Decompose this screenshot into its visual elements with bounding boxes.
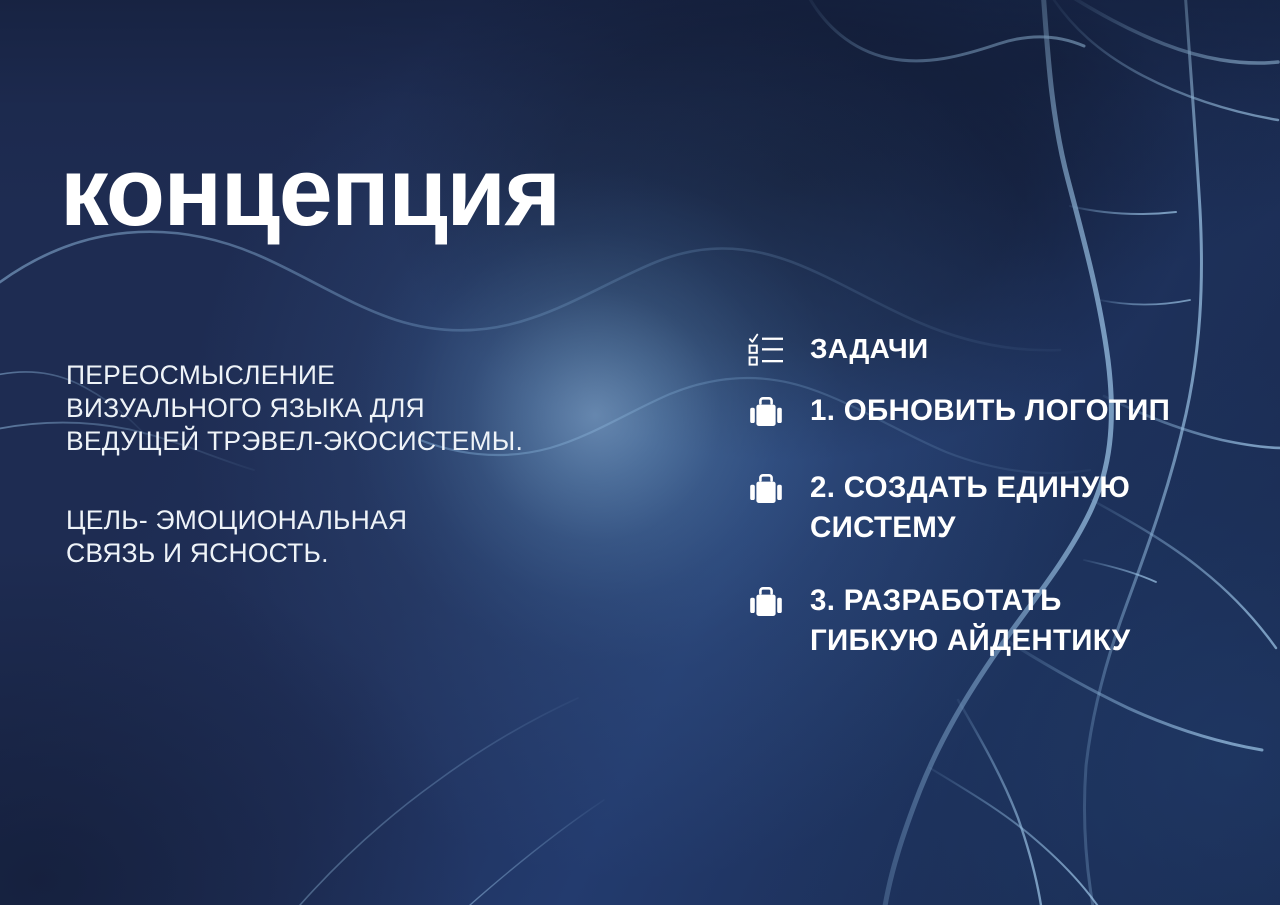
task-item[interactable]: 1. ОБНОВИТЬ ЛОГОТИП <box>748 390 1248 434</box>
briefcase-icon-wrapper <box>748 467 810 511</box>
paragraph-concept: ПЕРЕОСМЫСЛЕНИЕ ВИЗУАЛЬНОГО ЯЗЫКА ДЛЯ ВЕД… <box>66 359 686 458</box>
tasks-heading-text: ЗАДАЧИ <box>810 329 928 369</box>
task-item[interactable]: 3. РАЗРАБОТАТЬ ГИБКУЮ АЙДЕНТИКУ <box>748 580 1248 661</box>
checklist-icon-wrapper <box>748 328 810 372</box>
tasks-heading-label: ЗАДАЧИ <box>810 328 928 369</box>
task-line: 1. ОБНОВИТЬ ЛОГОТИП <box>810 391 1170 431</box>
paragraph-line: ВИЗУАЛЬНОГО ЯЗЫКА ДЛЯ <box>66 392 686 425</box>
briefcase-icon <box>748 472 784 506</box>
task-label: 3. РАЗРАБОТАТЬ ГИБКУЮ АЙДЕНТИКУ <box>810 580 1130 661</box>
tasks-list: ЗАДАЧИ 1. ОБНОВИТЬ ЛОГОТИП <box>748 328 1248 661</box>
task-label: 1. ОБНОВИТЬ ЛОГОТИП <box>810 390 1170 431</box>
paragraph-line: ЦЕЛЬ- ЭМОЦИОНАЛЬНАЯ <box>66 504 686 537</box>
briefcase-icon-wrapper <box>748 390 810 434</box>
task-label: 2. СОЗДАТЬ ЕДИНУЮ СИСТЕМУ <box>810 467 1130 548</box>
slide-title: концепция <box>60 143 560 240</box>
task-line: СИСТЕМУ <box>810 508 1130 548</box>
paragraph-line: ПЕРЕОСМЫСЛЕНИЕ <box>66 359 686 392</box>
paragraph-goal: ЦЕЛЬ- ЭМОЦИОНАЛЬНАЯ СВЯЗЬ И ЯСНОСТЬ. <box>66 504 686 570</box>
checklist-icon <box>748 333 786 367</box>
task-item[interactable]: 2. СОЗДАТЬ ЕДИНУЮ СИСТЕМУ <box>748 467 1248 548</box>
paragraph-line: ВЕДУЩЕЙ ТРЭВЕЛ-ЭКОСИСТЕМЫ. <box>66 425 686 458</box>
briefcase-icon <box>748 395 784 429</box>
task-line: 2. СОЗДАТЬ ЕДИНУЮ <box>810 468 1130 508</box>
task-line: 3. РАЗРАБОТАТЬ <box>810 581 1130 621</box>
briefcase-icon-wrapper <box>748 580 810 624</box>
presentation-slide: концепция ПЕРЕОСМЫСЛЕНИЕ ВИЗУАЛЬНОГО ЯЗЫ… <box>0 0 1280 905</box>
task-line: ГИБКУЮ АЙДЕНТИКУ <box>810 621 1130 661</box>
left-text-block: ПЕРЕОСМЫСЛЕНИЕ ВИЗУАЛЬНОГО ЯЗЫКА ДЛЯ ВЕД… <box>66 332 686 596</box>
tasks-heading-row: ЗАДАЧИ <box>748 328 1248 372</box>
briefcase-icon <box>748 585 784 619</box>
paragraph-line: СВЯЗЬ И ЯСНОСТЬ. <box>66 537 686 570</box>
